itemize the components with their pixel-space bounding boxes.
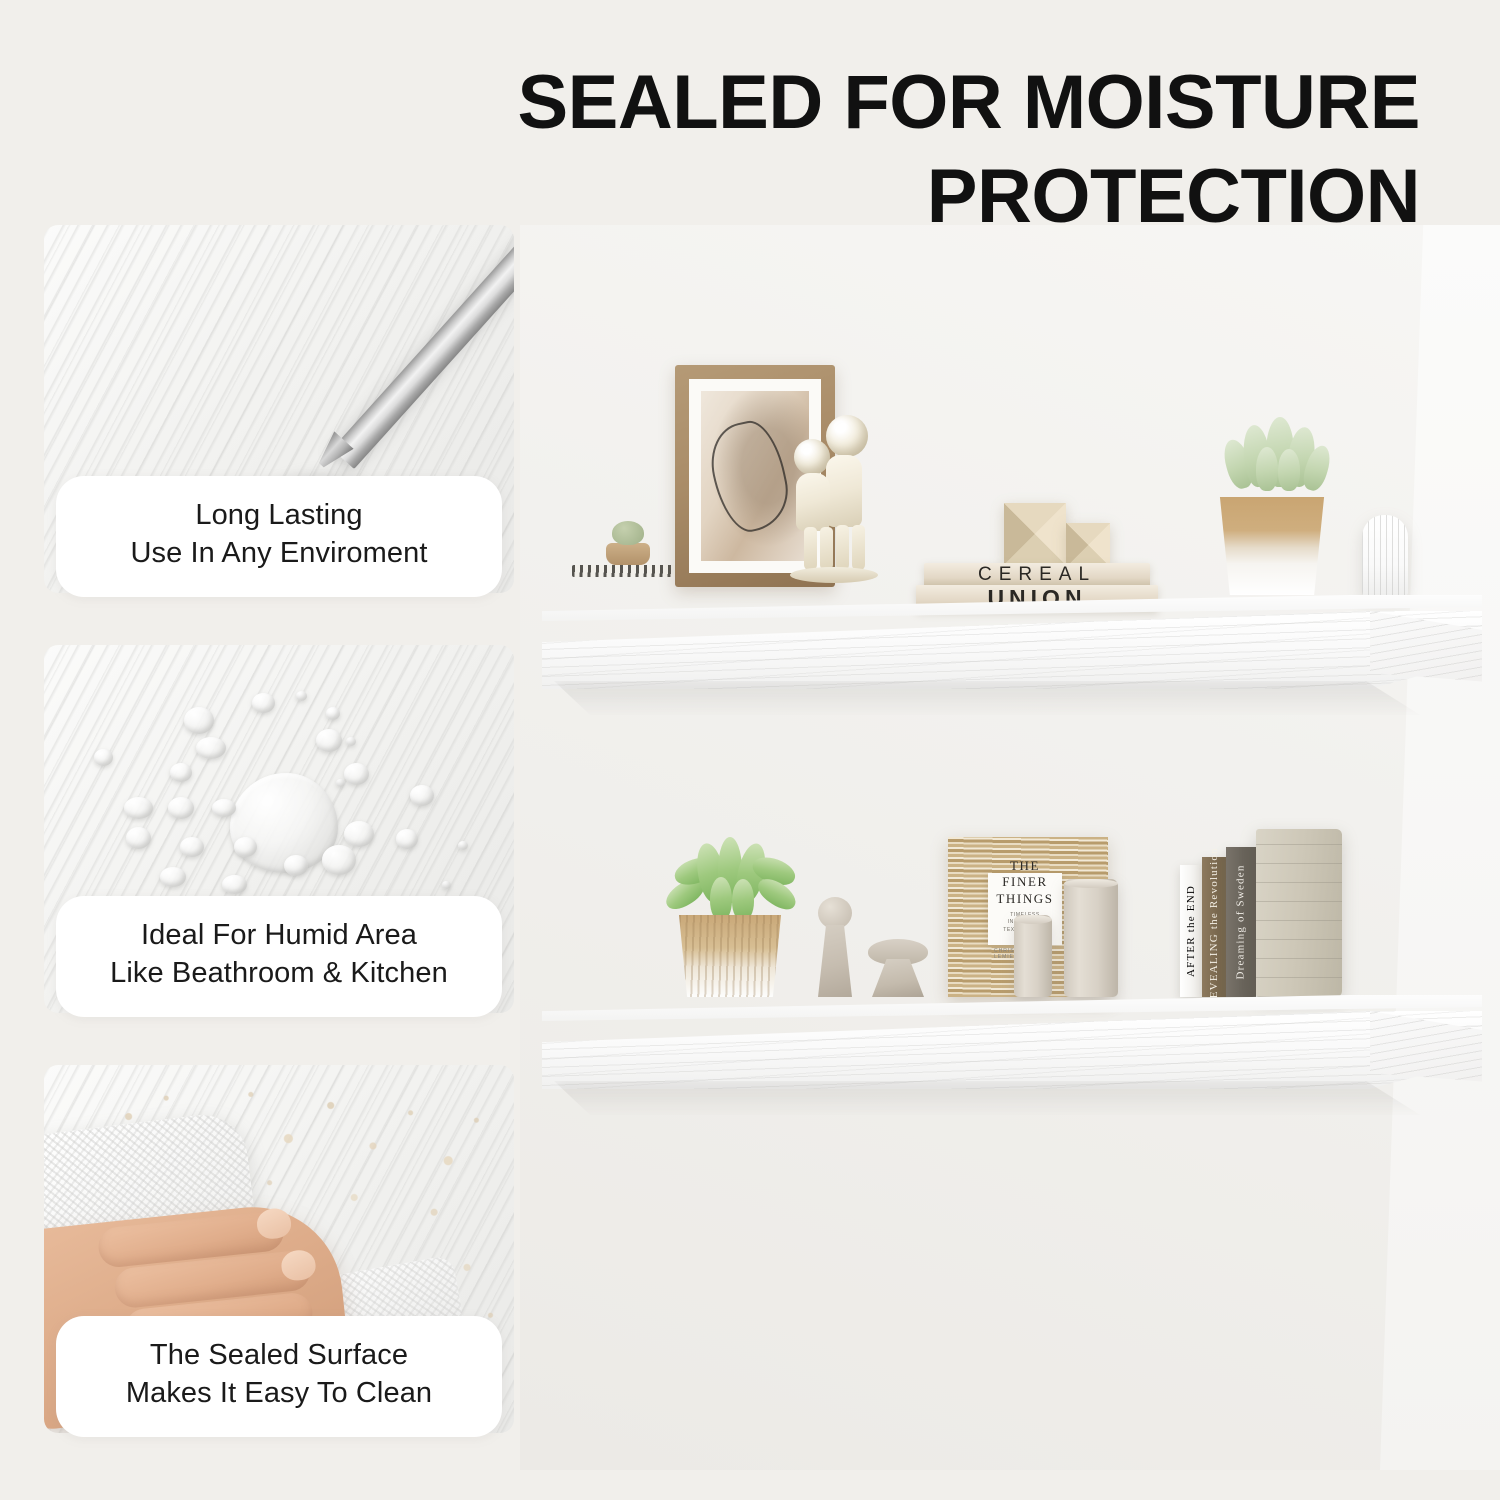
water-droplet-icon: [252, 693, 275, 713]
product-scene: CEREAL UNION: [520, 225, 1500, 1470]
water-droplet-icon: [326, 707, 340, 720]
book-spine-1: AFTER the END: [1180, 865, 1202, 997]
water-droplet-icon: [222, 875, 247, 894]
feature-card-durability: Long Lasting Use In Any Enviroment: [44, 225, 514, 593]
water-droplet-icon: [410, 785, 434, 806]
tall-taupe-cylinder-vase: [1064, 879, 1118, 997]
water-droplet-icon: [344, 763, 369, 785]
figurine-body: [796, 473, 830, 531]
caption-line-2: Like Beathroom & Kitchen: [66, 954, 492, 993]
book-spine-2: REVEALING the Revolution: [1202, 857, 1226, 997]
succulent-in-gold-ombre-pot: [1210, 497, 1334, 595]
green-plant-in-textured-pot: [672, 915, 788, 997]
large-cloth-bound-book: [1256, 829, 1342, 997]
book-title: CEREAL: [978, 564, 1096, 586]
figurine-body: [826, 455, 862, 527]
shelf-drop-shadow: [554, 1081, 1456, 1115]
lower-shelf: [542, 995, 1482, 1113]
feature-caption-water-resistance: Ideal For Humid Area Like Beathroom & Ki…: [56, 896, 502, 1017]
figurine-leg: [804, 527, 817, 571]
shelf-front-face: [542, 1011, 1482, 1089]
water-droplet-icon: [336, 779, 345, 787]
caption-line-1: Ideal For Humid Area: [66, 916, 492, 955]
book-spine-2-title: REVEALING the Revolution: [1208, 847, 1220, 1007]
water-droplet-icon: [322, 845, 356, 875]
water-droplet-icon: [180, 837, 204, 857]
book-spine-3: Dreaming of Sweden: [1226, 847, 1256, 997]
figurine-leg: [852, 525, 865, 571]
water-droplet-icon: [234, 837, 257, 857]
figurine-head: [826, 415, 868, 457]
shelf-front-face: [542, 611, 1482, 689]
caption-line-1: Long Lasting: [66, 496, 492, 535]
tall-candle-holder-top: [818, 897, 852, 929]
feature-card-water-resistance: Ideal For Humid Area Like Beathroom & Ki…: [44, 645, 514, 1013]
water-droplet-icon: [344, 821, 374, 847]
water-droplet-icon: [212, 799, 236, 817]
pearl-couple-figurine: [774, 415, 884, 587]
water-droplet-icon: [126, 827, 151, 849]
feature-caption-durability: Long Lasting Use In Any Enviroment: [56, 476, 502, 597]
water-droplet-icon: [396, 829, 418, 849]
feature-card-easy-clean: The Sealed Surface Makes It Easy To Clea…: [44, 1065, 514, 1433]
water-droplet-icon: [160, 867, 186, 887]
headline-line-1: SEALED FOR MOISTURE: [0, 56, 1420, 150]
water-droplet-icon: [346, 737, 356, 746]
water-droplet-icon: [442, 881, 451, 889]
feature-caption-easy-clean: The Sealed Surface Makes It Easy To Clea…: [56, 1316, 502, 1437]
water-droplet-icon: [316, 729, 342, 752]
succulent-foliage: [1212, 413, 1332, 503]
short-taupe-cylinder-vase: [1014, 915, 1052, 997]
page-title: SEALED FOR MOISTURE PROTECTION: [0, 56, 1460, 244]
design-book-title: THE FINER THINGS: [994, 858, 1056, 907]
figurine-leg: [836, 525, 849, 571]
coffee-table-book-upper: CEREAL: [924, 563, 1150, 587]
water-droplet-icon: [168, 797, 194, 819]
water-droplet-icon: [170, 763, 192, 782]
feature-list: Long Lasting Use In Any Enviroment: [44, 225, 514, 1485]
mini-pumpkin-base: [606, 543, 650, 565]
figurine-base: [790, 567, 878, 583]
mini-pumpkin-decor: [612, 521, 644, 545]
water-droplet-icon: [124, 797, 153, 819]
water-droplet-icon: [296, 691, 307, 701]
figurine-head: [794, 439, 830, 475]
ribbed-white-vase: [1362, 515, 1408, 597]
book-spine-3-title: Dreaming of Sweden: [1235, 864, 1247, 979]
water-droplet-icon: [184, 707, 214, 734]
water-droplet-icon: [284, 855, 308, 876]
water-droplet-icon: [196, 737, 226, 759]
shelf-drop-shadow: [554, 681, 1456, 715]
caption-line-2: Use In Any Enviroment: [66, 534, 492, 573]
geometric-cube-decor-large: [1004, 503, 1066, 565]
geometric-cube-decor-small: [1066, 523, 1110, 567]
water-droplet-icon: [94, 749, 113, 766]
caption-line-1: The Sealed Surface: [66, 1336, 492, 1375]
water-droplet-icon: [458, 841, 468, 850]
caption-line-2: Makes It Easy To Clean: [66, 1374, 492, 1413]
figurine-leg: [820, 527, 833, 571]
book-spine-1-title: AFTER the END: [1185, 885, 1197, 977]
upper-shelf: [542, 595, 1482, 713]
